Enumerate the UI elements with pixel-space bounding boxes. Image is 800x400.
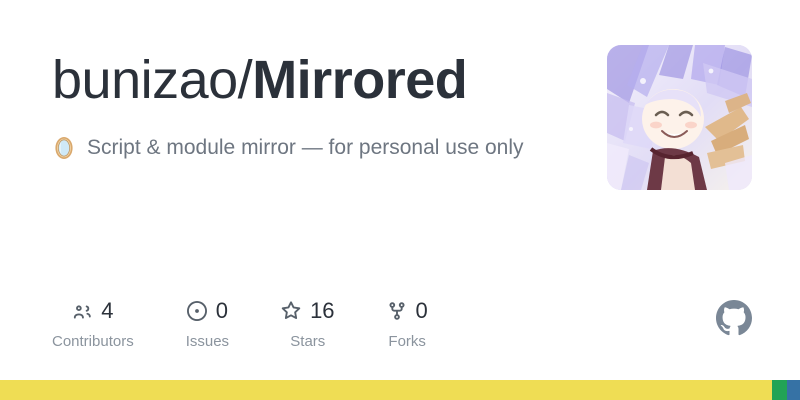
repository-name[interactable]: Mirrored <box>252 50 467 110</box>
language-segment-0 <box>0 380 772 400</box>
stat-issues-top: 0 <box>187 298 228 324</box>
stat-forks-count: 0 <box>416 299 428 323</box>
stat-forks-top: 0 <box>387 298 428 324</box>
stat-contributors-count: 4 <box>101 299 113 323</box>
github-mark-icon <box>716 300 752 336</box>
stat-contributors-label: Contributors <box>52 333 134 351</box>
repository-description-text: Script & module mirror — for personal us… <box>87 134 524 162</box>
repository-separator: / <box>238 50 253 110</box>
language-segment-2 <box>787 380 800 400</box>
stat-issues-count: 0 <box>216 299 228 323</box>
avatar[interactable] <box>607 45 752 190</box>
stat-stars-top: 16 <box>281 298 334 324</box>
issue-opened-icon <box>187 301 207 321</box>
repository-header: bunizao/Mirrored Script & module mirror … <box>52 48 600 162</box>
stat-issues-label: Issues <box>186 333 229 351</box>
star-icon <box>281 301 301 321</box>
page-title: bunizao/Mirrored <box>52 48 600 112</box>
people-icon <box>72 301 92 321</box>
stat-stars-count: 16 <box>310 299 334 323</box>
fork-icon <box>387 301 407 321</box>
repository-stats: 4 Contributors 0 Issues <box>52 298 428 351</box>
stat-contributors[interactable]: 4 Contributors <box>52 298 134 351</box>
avatar-illustration <box>607 45 752 190</box>
stat-stars[interactable]: 16 Stars <box>281 298 334 351</box>
language-segment-1 <box>772 380 787 400</box>
stat-contributors-top: 4 <box>72 298 113 324</box>
repository-owner[interactable]: bunizao <box>52 50 238 110</box>
stat-forks-label: Forks <box>388 333 426 351</box>
mirror-emoji-icon <box>52 136 76 160</box>
stat-stars-label: Stars <box>290 333 325 351</box>
repository-social-preview-card: bunizao/Mirrored Script & module mirror … <box>0 0 800 400</box>
repository-description: Script & module mirror — for personal us… <box>52 134 600 162</box>
stat-forks[interactable]: 0 Forks <box>387 298 428 351</box>
stat-issues[interactable]: 0 Issues <box>186 298 229 351</box>
language-bar <box>0 380 800 400</box>
